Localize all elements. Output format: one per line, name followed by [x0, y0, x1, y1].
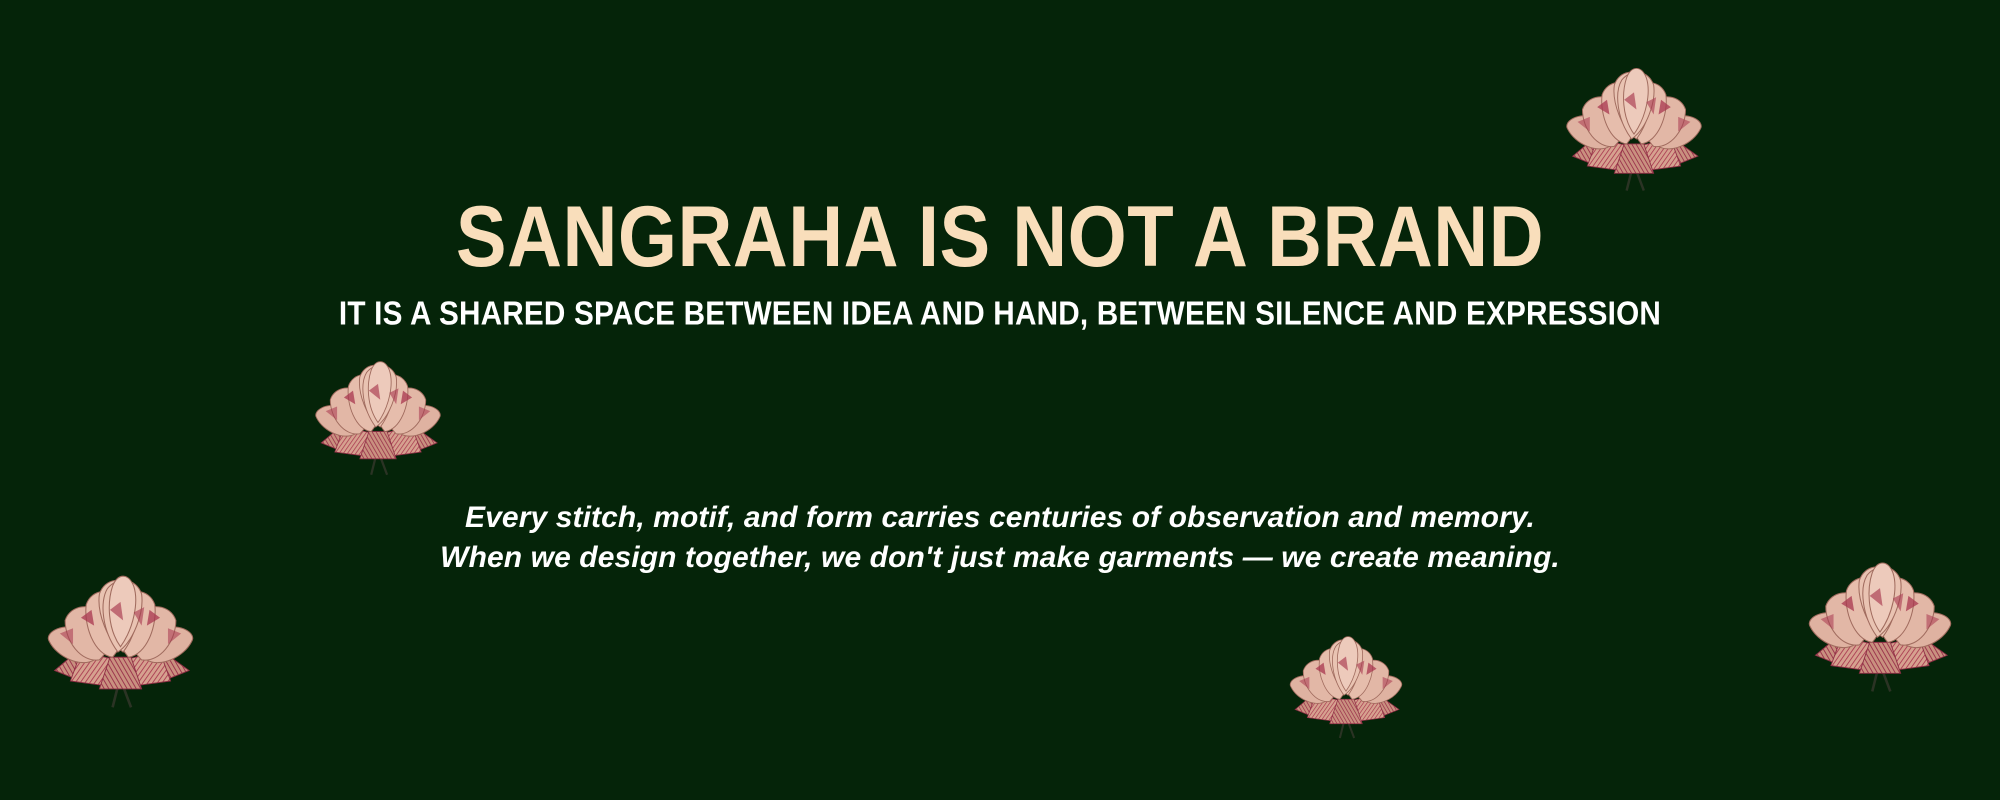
lotus-mid-left — [308, 352, 448, 477]
hero-text-layer: SANGRAHA IS NOT A BRAND IT IS A SHARED S… — [0, 0, 2000, 800]
page-subtitle: IT IS A SHARED SPACE BETWEEN IDEA AND HA… — [10, 298, 1990, 331]
lotus-bottom-left — [38, 565, 203, 710]
lotus-bottom-center — [1282, 628, 1410, 740]
lotus-bottom-right — [1800, 552, 1960, 694]
body-line-2: When we design together, we don't just m… — [0, 538, 2000, 578]
hero-banner: SANGRAHA IS NOT A BRAND IT IS A SHARED S… — [0, 0, 2000, 800]
hero-body-copy: Every stitch, motif, and form carries ce… — [0, 498, 2000, 578]
lotus-top-right — [1558, 58, 1710, 193]
page-title: SANGRAHA IS NOT A BRAND — [0, 195, 2000, 281]
body-line-1: Every stitch, motif, and form carries ce… — [0, 498, 2000, 538]
